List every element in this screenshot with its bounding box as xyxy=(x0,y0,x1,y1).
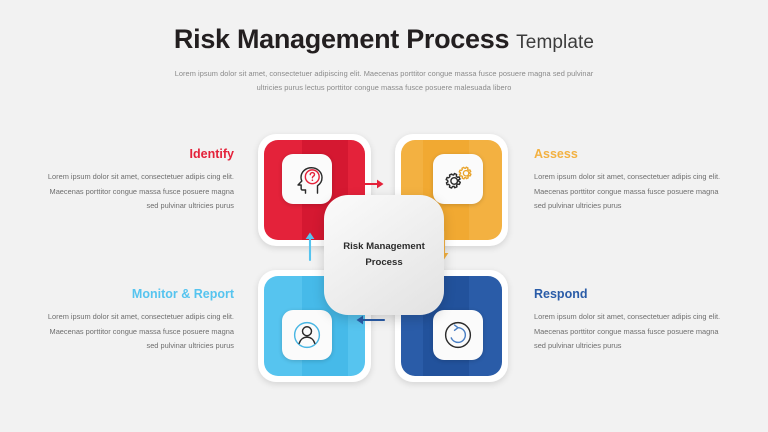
label-identify: Identify xyxy=(40,148,234,162)
title-sub: Template xyxy=(516,32,594,53)
arrow-identify-to-assess xyxy=(354,178,386,190)
center-label: Risk Management Process xyxy=(324,239,444,271)
body-identify: Lorem ipsum dolor sit amet, consectetuer… xyxy=(40,170,234,214)
text-block-monitor: Monitor & Report Lorem ipsum dolor sit a… xyxy=(40,288,234,354)
text-block-assess: Assess Lorem ipsum dolor sit amet, conse… xyxy=(534,148,728,214)
page-title: Risk Management ProcessTemplate xyxy=(0,24,768,55)
risk-process-diagram: Risk Management Process xyxy=(258,134,508,382)
icon-tile-respond xyxy=(433,310,483,360)
text-block-respond: Respond Lorem ipsum dolor sit amet, cons… xyxy=(534,288,728,354)
arrow-monitor-to-identify xyxy=(304,230,316,262)
label-respond: Respond xyxy=(534,288,728,302)
icon-tile-assess xyxy=(433,154,483,204)
text-block-identify: Identify Lorem ipsum dolor sit amet, con… xyxy=(40,148,234,214)
subtitle-text: Lorem ipsum dolor sit amet, consectetuer… xyxy=(169,67,599,94)
center-tile[interactable]: Risk Management Process xyxy=(324,195,444,315)
body-monitor: Lorem ipsum dolor sit amet, consectetuer… xyxy=(40,310,234,354)
label-assess: Assess xyxy=(534,148,728,162)
label-monitor: Monitor & Report xyxy=(40,288,234,302)
refresh-circle-icon xyxy=(440,317,476,353)
head-question-icon xyxy=(289,161,325,197)
person-circle-icon xyxy=(289,317,325,353)
slide-header: Risk Management ProcessTemplate Lorem ip… xyxy=(0,24,768,94)
icon-tile-monitor xyxy=(282,310,332,360)
body-respond: Lorem ipsum dolor sit amet, consectetuer… xyxy=(534,310,728,354)
arrow-respond-to-monitor xyxy=(354,314,386,326)
title-main: Risk Management Process xyxy=(174,24,509,54)
body-assess: Lorem ipsum dolor sit amet, consectetuer… xyxy=(534,170,728,214)
slide-canvas: Risk Management ProcessTemplate Lorem ip… xyxy=(0,0,768,432)
gears-icon xyxy=(440,161,476,197)
icon-tile-identify xyxy=(282,154,332,204)
